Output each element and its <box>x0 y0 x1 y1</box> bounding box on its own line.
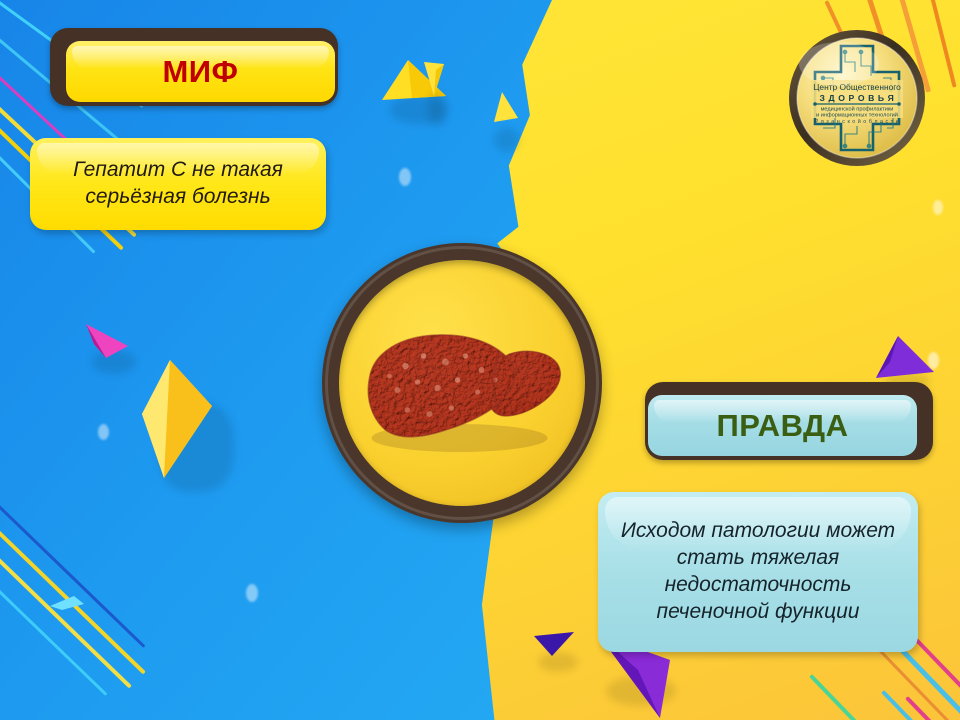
decor-triangle-yellow-c <box>494 92 520 126</box>
decor-chip-cyan-bottom-left <box>50 596 86 612</box>
myth-body-bubble: Гепатит С не такая серьёзная болезнь <box>30 138 326 230</box>
logo-line5: Р я з а н с к о й о б л а с т и <box>815 118 899 125</box>
logo-line4: и информационных технологий <box>816 112 898 119</box>
decor-dot-5 <box>933 200 943 215</box>
medallion-disc <box>339 260 585 506</box>
decor-triangle-yellow-b <box>424 62 448 98</box>
decor-dot-4 <box>928 352 939 369</box>
myth-plaque-face: МИФ <box>66 41 335 102</box>
truth-body-bubble: Исходом патологии может стать тяжелая не… <box>598 492 918 652</box>
decor-dot-1 <box>399 168 411 186</box>
logo-line3: медицинской профилактики <box>821 106 894 113</box>
truth-plaque-face: ПРАВДА <box>648 395 917 456</box>
decor-triangle-purple-right <box>876 336 936 382</box>
decor-triangle-indigo <box>534 632 576 658</box>
truth-header-label: ПРАВДА <box>716 408 848 444</box>
decor-shadow-yellow-tri-c <box>494 128 520 152</box>
myth-body-text: Гепатит С не такая серьёзная болезнь <box>30 157 326 211</box>
truth-header-plaque: ПРАВДА <box>645 382 933 460</box>
decor-dot-2 <box>246 584 258 602</box>
myth-header-label: МИФ <box>162 54 238 90</box>
decor-triangle-magenta <box>80 324 130 360</box>
organization-logo: Центр Общественного З Д О Р О В Ь Я меди… <box>787 28 927 168</box>
logo-line2: З Д О Р О В Ь Я <box>820 93 895 103</box>
decor-dot-3 <box>98 424 109 440</box>
slide-canvas: МИФ Гепатит С не такая серьёзная болезнь… <box>0 0 960 720</box>
decor-diamond-yellow <box>142 360 214 482</box>
myth-header-plaque: МИФ <box>50 28 338 106</box>
truth-body-text: Исходом патологии может стать тяжелая не… <box>598 518 918 626</box>
cirrhotic-liver-icon <box>360 318 565 458</box>
liver-medallion <box>322 243 602 523</box>
